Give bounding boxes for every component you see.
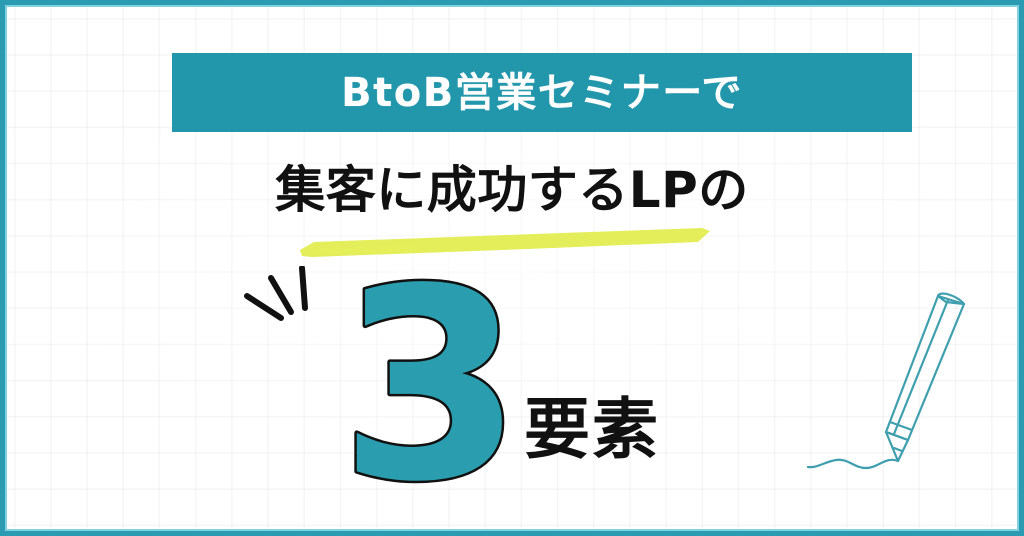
big-number-value: 3 [339, 262, 523, 494]
slide-canvas: BtoB営業セミナーで 集客に成功するLPの 3 要素 [0, 0, 1024, 536]
unit-label: 要素 [524, 397, 660, 463]
big-number-graphic: 3 [336, 262, 526, 494]
headline-row: 集客に成功するLPの [0, 163, 1024, 218]
banner-bar: BtoB営業セミナーで [172, 53, 912, 132]
banner-title: BtoB営業セミナーで [341, 73, 743, 113]
headline-text: 集客に成功するLPの [275, 163, 749, 218]
